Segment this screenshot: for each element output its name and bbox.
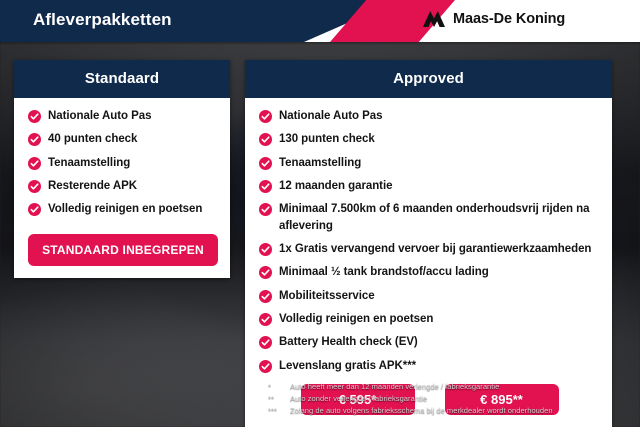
feature-item: Tenaamstelling [28,155,218,171]
feature-item: Volledig reinigen en poetsen [28,201,218,217]
check-circle-icon [259,360,272,373]
footnote-text: Auto zonder verlengde / fabrieksgarantie [290,393,427,405]
check-circle-icon [259,336,272,349]
card-body-standaard: Nationale Auto Pas40 punten checkTenaams… [14,98,230,278]
check-circle-icon [259,203,272,216]
slide-root: Afleverpakketten Maas-De Koning Standaar… [0,0,640,427]
feature-item: 130 punten check [259,131,600,147]
footnote-marker: ** [268,393,284,405]
feature-label: Tenaamstelling [48,155,130,171]
check-circle-icon [259,133,272,146]
brand-logo: Maas-De Koning [422,9,565,29]
card-body-approved: Nationale Auto Pas130 punten checkTenaam… [245,98,612,427]
page-title: Afleverpakketten [33,10,172,30]
feature-label: Tenaamstelling [279,155,361,171]
standaard-inbegrepen-button[interactable]: STANDAARD INBEGREPEN [28,234,218,266]
check-circle-icon [259,266,272,279]
check-circle-icon [28,203,41,216]
footnote-row: ***Zolang de auto volgens fabrieksschema… [268,405,628,417]
check-circle-icon [259,243,272,256]
feature-item: 40 punten check [28,131,218,147]
check-circle-icon [28,180,41,193]
footnote-marker: * [268,381,284,393]
feature-label: Resterende APK [48,178,137,194]
feature-item: Minimaal ½ tank brandstof/accu lading [259,264,600,280]
feature-label: 130 punten check [279,131,375,147]
feature-item: Nationale Auto Pas [28,108,218,124]
feature-label: Mobiliteitsservice [279,288,375,304]
feature-label: Minimaal 7.500km of 6 maanden onderhouds… [279,201,600,234]
check-circle-icon [28,133,41,146]
feature-label: 1x Gratis vervangend vervoer bij garanti… [279,241,591,257]
maas-de-koning-logo-icon [422,9,446,29]
feature-item: Battery Health check (EV) [259,334,600,350]
feature-item: Levenslang gratis APK*** [259,358,600,374]
feature-label: Volledig reinigen en poetsen [48,201,202,217]
feature-item: Resterende APK [28,178,218,194]
feature-list-standaard: Nationale Auto Pas40 punten checkTenaams… [28,108,218,218]
check-circle-icon [259,313,272,326]
feature-label: Volledig reinigen en poetsen [279,311,433,327]
footnote-row: **Auto zonder verlengde / fabrieksgarant… [268,393,628,405]
feature-label: Minimaal ½ tank brandstof/accu lading [279,264,489,280]
feature-item: 1x Gratis vervangend vervoer bij garanti… [259,241,600,257]
package-card-approved: Approved Nationale Auto Pas130 punten ch… [245,60,612,427]
check-circle-icon [259,180,272,193]
check-circle-icon [259,290,272,303]
footnote-row: *Auto heeft meer dan 12 maanden verlengd… [268,381,628,393]
footnote-marker: *** [268,405,284,417]
check-circle-icon [259,157,272,170]
feature-item: Volledig reinigen en poetsen [259,311,600,327]
check-circle-icon [28,157,41,170]
feature-label: Levenslang gratis APK*** [279,358,416,374]
feature-label: Nationale Auto Pas [279,108,382,124]
card-title-approved: Approved [245,60,612,98]
check-circle-icon [28,110,41,123]
feature-label: 40 punten check [48,131,137,147]
footnotes: *Auto heeft meer dan 12 maanden verlengd… [268,381,628,417]
check-circle-icon [259,110,272,123]
feature-label: 12 maanden garantie [279,178,392,194]
feature-item: Mobiliteitsservice [259,288,600,304]
header-shadow [0,42,640,45]
header-bar: Afleverpakketten Maas-De Koning [0,0,640,42]
brand-name: Maas-De Koning [453,11,565,27]
package-card-standaard: Standaard Nationale Auto Pas40 punten ch… [14,60,230,278]
feature-item: Nationale Auto Pas [259,108,600,124]
feature-label: Nationale Auto Pas [48,108,151,124]
feature-item: Minimaal 7.500km of 6 maanden onderhouds… [259,201,600,234]
feature-item: 12 maanden garantie [259,178,600,194]
footnote-text: Auto heeft meer dan 12 maanden verlengde… [290,381,499,393]
card-title-standaard: Standaard [14,60,230,98]
footnote-text: Zolang de auto volgens fabrieksschema bi… [290,405,553,417]
feature-item: Tenaamstelling [259,155,600,171]
feature-list-approved: Nationale Auto Pas130 punten checkTenaam… [259,108,600,374]
feature-label: Battery Health check (EV) [279,334,418,350]
